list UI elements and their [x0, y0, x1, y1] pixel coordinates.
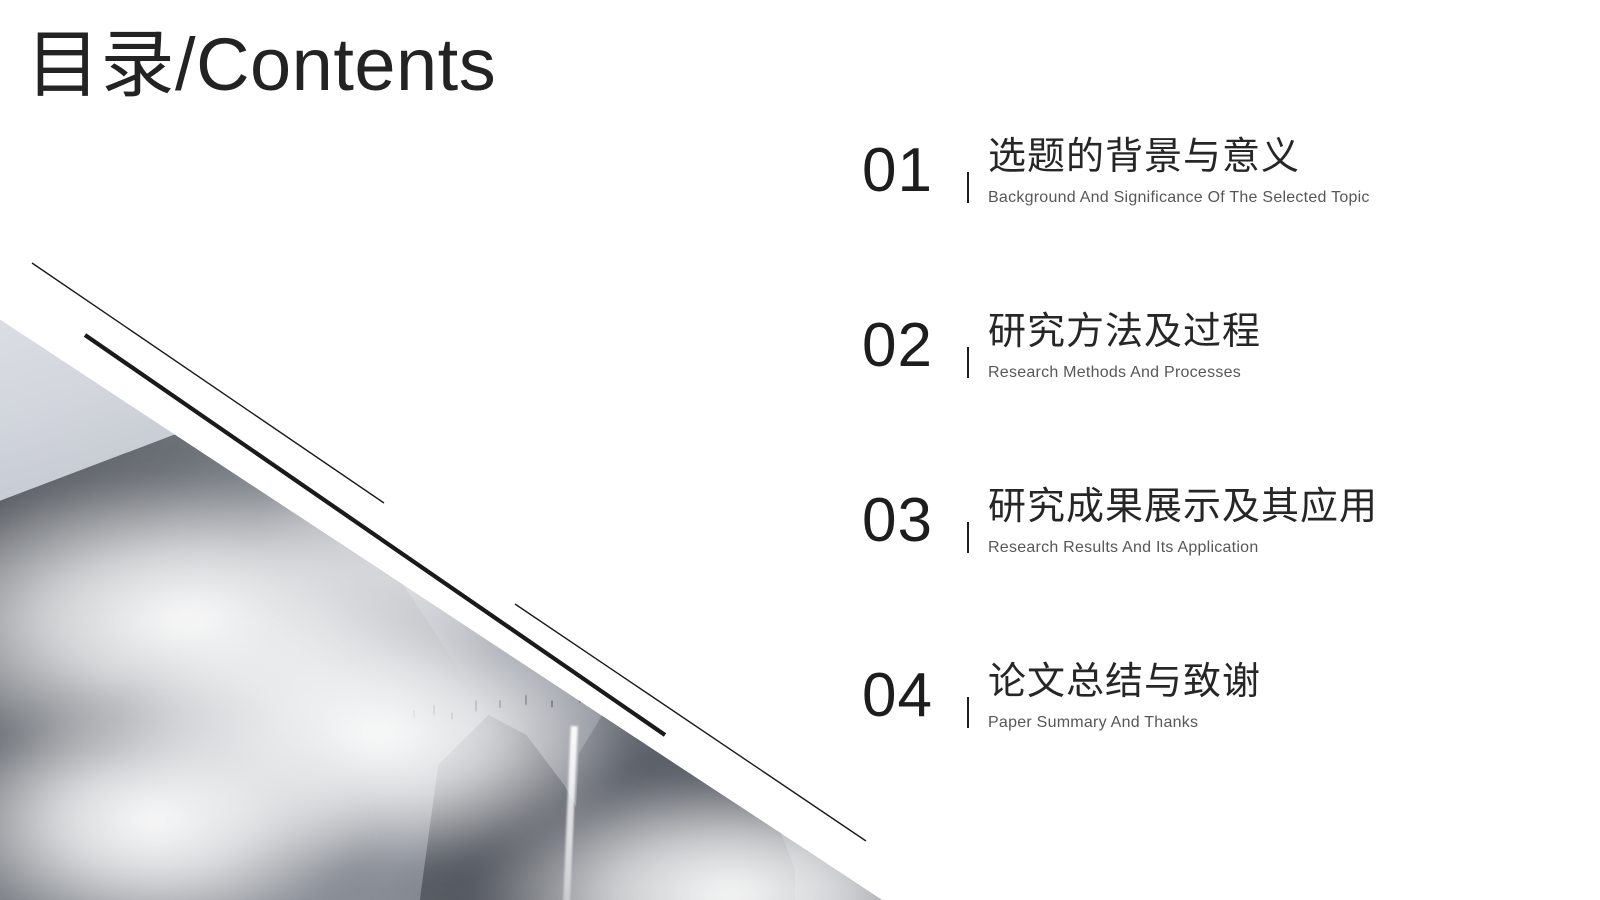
page-title: 目录/Contents	[26, 28, 496, 102]
contents-number-01: 01	[862, 140, 933, 202]
contents-text-03: 研究成果展示及其应用 Research Results And Its Appl…	[988, 484, 1378, 558]
page-title-cn: 目录	[26, 23, 175, 106]
page-title-en: Contents	[196, 23, 496, 106]
contents-title-cn-04: 论文总结与致谢	[988, 659, 1261, 705]
contents-divider-bar-04	[967, 697, 969, 728]
contents-title-cn-03: 研究成果展示及其应用	[988, 484, 1378, 530]
contents-number-02: 02	[862, 315, 933, 377]
contents-number-04: 04	[862, 665, 933, 727]
contents-item-01[interactable]: 01 选题的背景与意义 Background And Significance …	[862, 134, 1562, 309]
contents-list: 01 选题的背景与意义 Background And Significance …	[862, 134, 1562, 834]
contents-title-en-02: Research Methods And Processes	[988, 363, 1261, 383]
contents-item-03[interactable]: 03 研究成果展示及其应用 Research Results And Its A…	[862, 484, 1562, 659]
page-title-sep: /	[175, 23, 196, 106]
contents-text-01: 选题的背景与意义 Background And Significance Of …	[988, 134, 1370, 208]
slide-canvas: 目录/Contents 01 选题的背景与意义 Background And S…	[0, 0, 1600, 900]
contents-number-03: 03	[862, 490, 933, 552]
contents-item-04[interactable]: 04 论文总结与致谢 Paper Summary And Thanks	[862, 659, 1562, 834]
contents-title-en-03: Research Results And Its Application	[988, 538, 1378, 558]
mountain-fog-photo	[0, 0, 900, 900]
contents-divider-bar-01	[967, 172, 969, 203]
contents-item-02[interactable]: 02 研究方法及过程 Research Methods And Processe…	[862, 309, 1562, 484]
contents-title-en-01: Background And Significance Of The Selec…	[988, 188, 1370, 208]
contents-divider-bar-02	[967, 347, 969, 378]
contents-text-04: 论文总结与致谢 Paper Summary And Thanks	[988, 659, 1261, 733]
photo-haze-overlay	[0, 0, 900, 900]
photo-fog-band-6	[600, 520, 900, 720]
contents-divider-bar-03	[967, 522, 969, 553]
contents-title-en-04: Paper Summary And Thanks	[988, 713, 1261, 733]
contents-title-cn-02: 研究方法及过程	[988, 309, 1261, 355]
contents-title-cn-01: 选题的背景与意义	[988, 134, 1370, 180]
contents-text-02: 研究方法及过程 Research Methods And Processes	[988, 309, 1261, 383]
photo-artwork	[0, 0, 900, 900]
